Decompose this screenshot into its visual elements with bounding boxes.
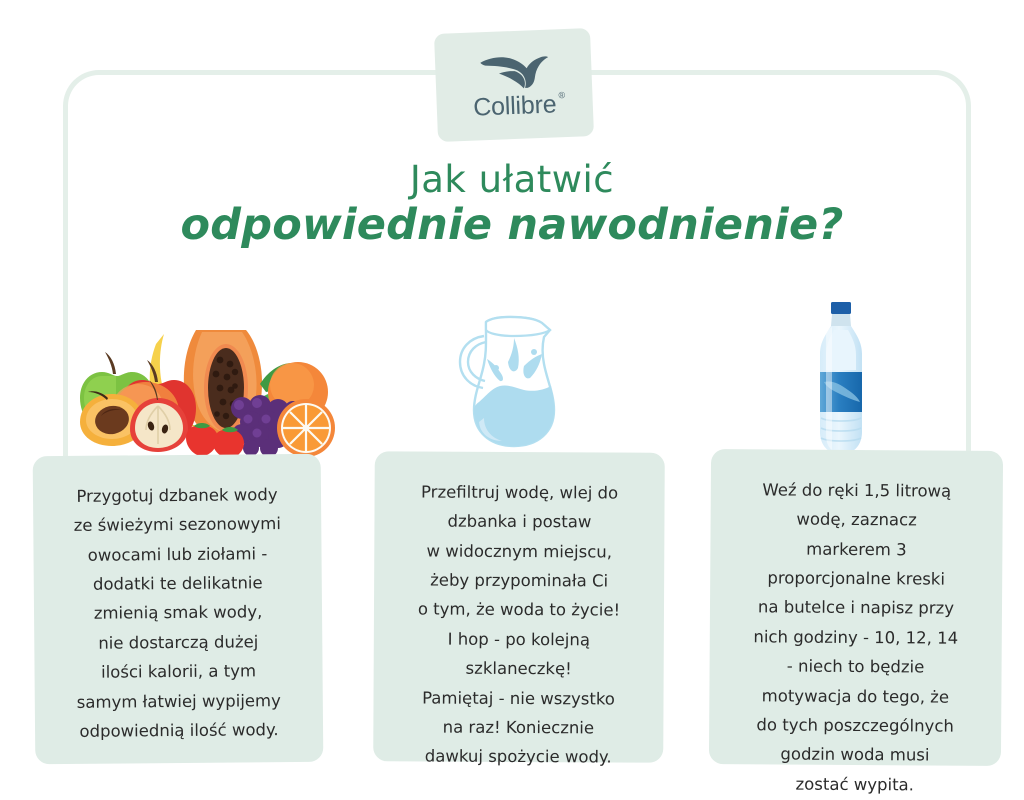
title-line-1: Jak ułatwić [0,160,1024,200]
title-line-2: odpowiednie nawodnienie? [0,200,1024,251]
brand-badge: Collibre® [434,28,594,142]
infographic-canvas: Collibre® Jak ułatwić odpowiednie nawodn… [0,0,1024,768]
water-pitcher-icon [452,306,578,454]
tip-card-1: Przygotuj dzbanek wody ze świeżymi sezon… [33,454,324,765]
hummingbird-icon [476,48,551,91]
fruit-pile-icon [46,330,336,458]
water-bottle-icon [810,300,872,458]
registered-mark: ® [558,91,565,100]
page-title: Jak ułatwić odpowiednie nawodnienie? [0,160,1024,251]
brand-wordmark: Collibre® [473,90,557,122]
brand-name: Collibre [473,90,557,121]
tip-card-3: Weź do ręki 1,5 litrową wodę, zaznacz ma… [709,449,1003,766]
tip-card-2: Przefiltruj wodę, wlej do dzbanka i post… [373,451,665,763]
